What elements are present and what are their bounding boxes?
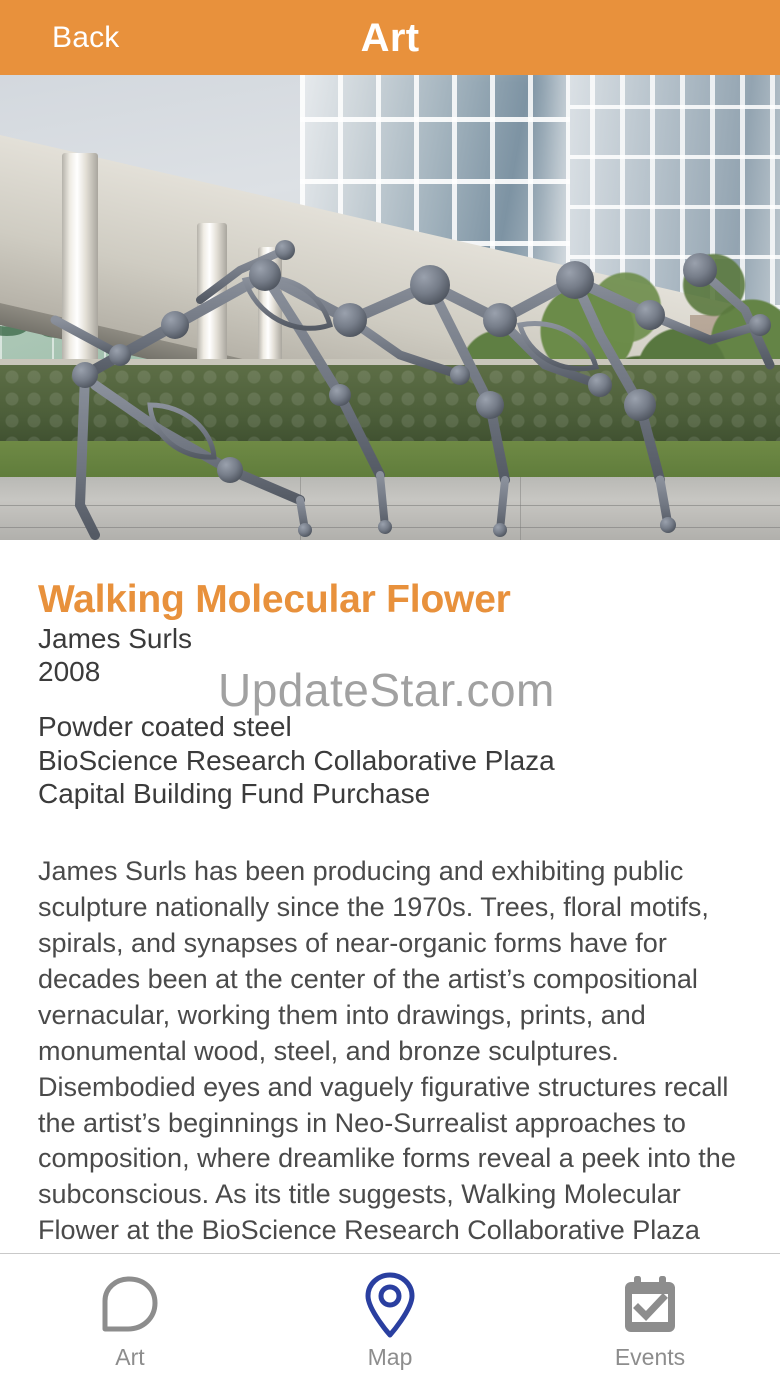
navigation-bar: Back Art: [0, 0, 780, 75]
tab-bar: Art Map Events: [0, 1253, 780, 1387]
tab-label-art: Art: [115, 1346, 144, 1369]
artwork-year: 2008: [38, 655, 742, 688]
tab-map[interactable]: Map: [260, 1254, 520, 1387]
tab-label-map: Map: [368, 1346, 413, 1369]
artwork-description: James Surls has been producing and exhib…: [38, 854, 742, 1253]
artwork-title: Walking Molecular Flower: [38, 578, 742, 622]
calendar-check-icon: [620, 1272, 680, 1338]
spacer: [38, 810, 742, 854]
artwork-photo: S S I L I T: [0, 75, 780, 540]
artwork-credit: Capital Building Fund Purchase: [38, 777, 742, 810]
tab-events[interactable]: Events: [520, 1254, 780, 1387]
sculpture-graphic: [0, 75, 780, 540]
artwork-location: BioScience Research Collaborative Plaza: [38, 744, 742, 777]
tab-label-events: Events: [615, 1346, 685, 1369]
page-title: Art: [0, 18, 780, 58]
artwork-medium: Powder coated steel: [38, 710, 742, 743]
artwork-artist: James Surls: [38, 622, 742, 655]
location-pin-icon: [362, 1272, 418, 1338]
spacer: [38, 688, 742, 710]
app-root: Back Art S S I L I T: [0, 0, 780, 1387]
speech-bubble-icon: [99, 1272, 161, 1338]
artwork-detail-panel[interactable]: Walking Molecular Flower James Surls 200…: [0, 540, 780, 1253]
tab-art[interactable]: Art: [0, 1254, 260, 1387]
